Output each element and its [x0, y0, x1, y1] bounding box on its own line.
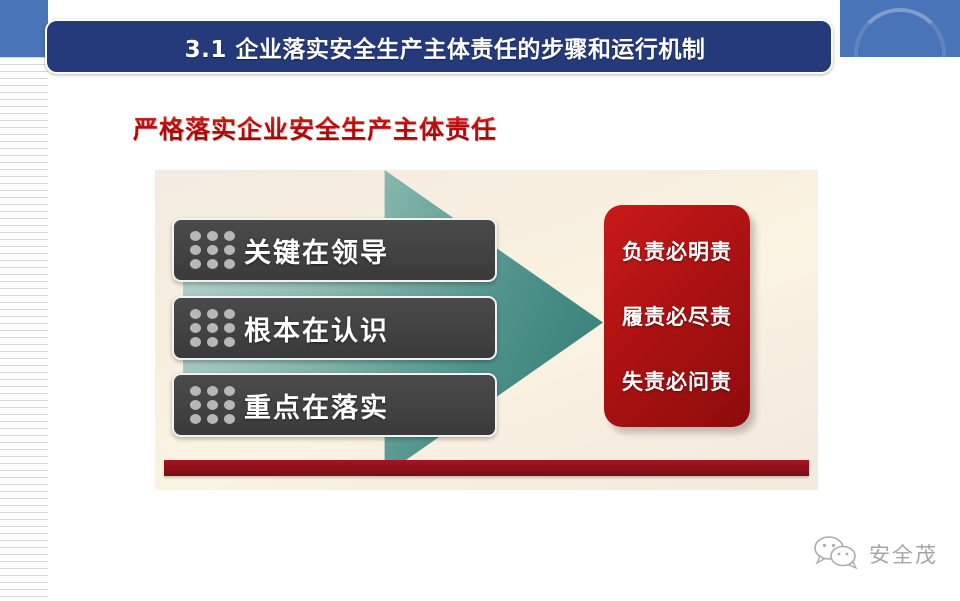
step-box-1-label: 关键在领导	[244, 231, 389, 270]
panel-bottom-bar	[164, 460, 809, 476]
step-box-1: 关键在领导	[172, 218, 497, 282]
result-card: 负责必明责 履责必尽责 失责必问责	[604, 205, 750, 427]
corner-block-left	[0, 0, 48, 57]
result-line-3: 失责必问责	[622, 366, 732, 396]
figure-panel: 关键在领导 根本在认识 重点在落实 负责必明责 履责必尽责 失责必问责	[155, 170, 818, 490]
step-box-3: 重点在落实	[172, 373, 497, 437]
result-line-1: 负责必明责	[622, 236, 732, 266]
step-box-2: 根本在认识	[172, 296, 497, 360]
arc-decoration-icon	[854, 8, 946, 57]
watermark-label: 安全茂	[869, 539, 938, 569]
section-heading: 严格落实企业安全生产主体责任	[133, 110, 497, 146]
dot-grid-icon	[190, 386, 236, 424]
page-title: 3.1 企业落实安全生产主体责任的步骤和运行机制	[173, 30, 706, 64]
step-box-3-label: 重点在落实	[244, 386, 389, 425]
corner-block-right	[840, 0, 960, 57]
step-box-2-label: 根本在认识	[244, 309, 389, 348]
slide-title-bar: 3.1 企业落实安全生产主体责任的步骤和运行机制	[45, 19, 833, 74]
watermark: 安全茂	[813, 535, 938, 573]
dot-grid-icon	[190, 309, 236, 347]
dot-grid-icon	[190, 231, 236, 269]
left-stripe-decoration	[0, 57, 48, 601]
result-line-2: 履责必尽责	[622, 301, 732, 331]
slide-canvas: 3.1 企业落实安全生产主体责任的步骤和运行机制 严格落实企业安全生产主体责任 …	[0, 0, 960, 601]
wechat-speech-bubbles-icon	[813, 535, 859, 573]
